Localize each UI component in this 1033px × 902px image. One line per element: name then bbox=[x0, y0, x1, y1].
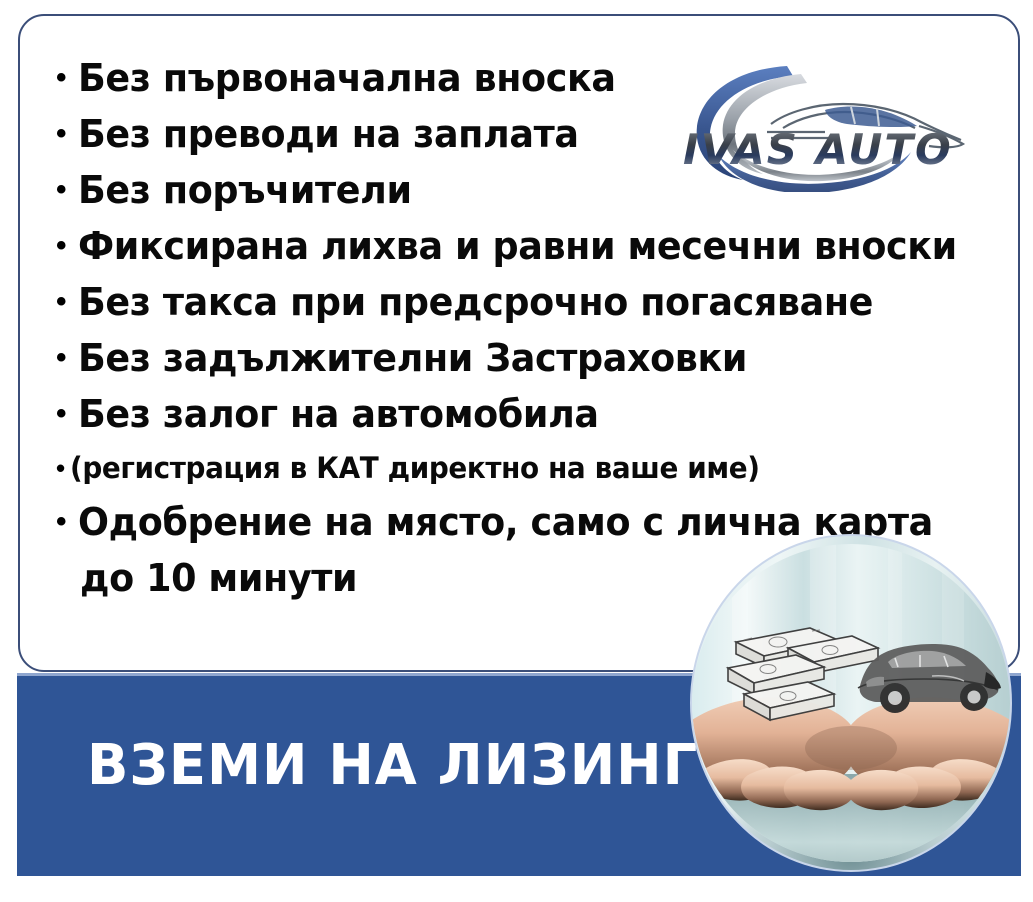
list-item-label-continuation: до 10 минути bbox=[80, 556, 357, 600]
ivas-auto-logo: IVAS AUTO bbox=[675, 52, 975, 192]
list-item-label: Без такса при предсрочно погасяване bbox=[78, 280, 873, 324]
poster-root: • Без първоначална вноска • Без преводи … bbox=[0, 0, 1033, 902]
logo-wordmark: IVAS AUTO bbox=[683, 125, 953, 174]
list-item: • Фиксирана лихва и равни месечни вноски bbox=[56, 224, 1016, 280]
list-item-note: • (регистрация в КАТ директно на ваше им… bbox=[56, 448, 1016, 500]
list-item-label: Без преводи на заплата bbox=[78, 112, 579, 156]
list-item-label: Без задължителни Застраховки bbox=[78, 336, 747, 380]
bullet-dot-icon: • bbox=[56, 336, 78, 380]
bullet-dot-icon: • bbox=[56, 280, 78, 324]
list-item: • Без залог на автомобила bbox=[56, 392, 1016, 448]
bullet-dot-icon: • bbox=[56, 112, 78, 156]
list-item-label: Без поръчители bbox=[78, 168, 412, 212]
bullet-dot-icon: • bbox=[56, 392, 78, 436]
list-item-label: Фиксирана лихва и равни месечни вноски bbox=[78, 224, 957, 268]
list-item-label: Без първоначална вноска bbox=[78, 56, 616, 100]
cta-banner-text: ВЗЕМИ НА ЛИЗИНГ bbox=[87, 733, 698, 798]
hands-money-car-photo bbox=[690, 534, 1012, 872]
list-item: • Без такса при предсрочно погасяване bbox=[56, 280, 1016, 336]
list-item-label: Без залог на автомобила bbox=[78, 392, 599, 436]
bullet-dot-icon: • bbox=[56, 56, 78, 100]
bullet-dot-icon: • bbox=[56, 500, 78, 544]
list-item: • Без задължителни Застраховки bbox=[56, 336, 1016, 392]
bullet-dot-icon: • bbox=[56, 224, 78, 268]
bullet-dot-icon: • bbox=[56, 448, 70, 488]
list-item-label: (регистрация в КАТ директно на ваше име) bbox=[70, 448, 760, 488]
hands-illustration bbox=[692, 536, 1010, 870]
car-swoosh-logo-icon: IVAS AUTO bbox=[675, 52, 975, 192]
bullet-dot-icon: • bbox=[56, 168, 78, 212]
